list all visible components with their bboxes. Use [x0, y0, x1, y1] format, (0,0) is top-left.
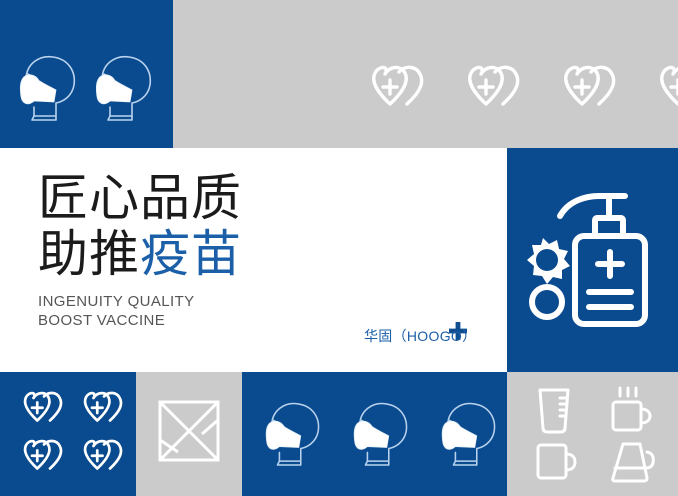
double-heart-plus-icon	[74, 388, 128, 432]
hero-text-block: 匠心品质 助推疫苗 INGENUITY QUALITY BOOST VACCIN…	[38, 170, 242, 330]
english-subtitle: INGENUITY QUALITY BOOST VACCINE	[38, 292, 242, 330]
bottom-middle-blue-panel	[242, 372, 507, 496]
masked-face-icon	[90, 50, 158, 122]
kettle-pitcher-icon	[607, 440, 657, 484]
plain-mug-icon	[533, 440, 583, 484]
masked-face-icon	[348, 394, 414, 470]
headline-line-2-black: 助推	[38, 225, 140, 283]
poster-canvas: 匠心品质 助推疫苗 INGENUITY QUALITY BOOST VACCIN…	[0, 0, 678, 496]
double-heart-plus-icon	[74, 436, 128, 480]
bottom-left-blue-panel	[0, 372, 136, 496]
double-heart-plus-icon	[359, 62, 431, 118]
small-germ-ring-icon	[532, 287, 562, 317]
masked-face-icon	[436, 394, 502, 470]
top-mask-icon-row	[14, 50, 158, 122]
brand-name: 华固（HOOGO）	[364, 326, 476, 346]
top-heart-icon-row	[359, 62, 678, 118]
steaming-mug-icon	[607, 386, 657, 434]
english-subtitle-line-2: BOOST VACCINE	[38, 311, 242, 330]
double-heart-plus-icon	[455, 62, 527, 118]
masked-face-icon	[14, 50, 82, 122]
image-placeholder-crossed-square-icon	[158, 400, 220, 462]
bottom-right-gray-panel	[507, 372, 678, 496]
headline-line-1: 匠心品质	[38, 170, 242, 226]
masked-face-icon	[260, 394, 326, 470]
bottom-mask-icon-row	[260, 394, 502, 470]
hero-panel: 匠心品质 助推疫苗 INGENUITY QUALITY BOOST VACCIN…	[0, 148, 507, 372]
double-heart-plus-icon	[551, 62, 623, 118]
image-placeholder-panel	[136, 372, 242, 496]
english-subtitle-line-1: INGENUITY QUALITY	[38, 292, 242, 311]
double-heart-plus-icon	[14, 388, 68, 432]
top-right-gray-panel	[173, 0, 678, 148]
headline-line-2-accent: 疫苗	[140, 225, 242, 283]
sanitizer-blue-panel	[507, 148, 678, 372]
bottom-heart-icon-grid	[14, 388, 128, 480]
top-left-blue-panel	[0, 0, 173, 148]
headline-line-2: 助推疫苗	[38, 226, 242, 282]
double-heart-plus-icon	[14, 436, 68, 480]
double-heart-plus-icon	[647, 62, 678, 118]
beaker-measuring-cup-icon	[533, 386, 583, 434]
vessel-icon-grid	[533, 386, 657, 484]
hand-sanitizer-pump-bottle-icon	[521, 190, 667, 330]
